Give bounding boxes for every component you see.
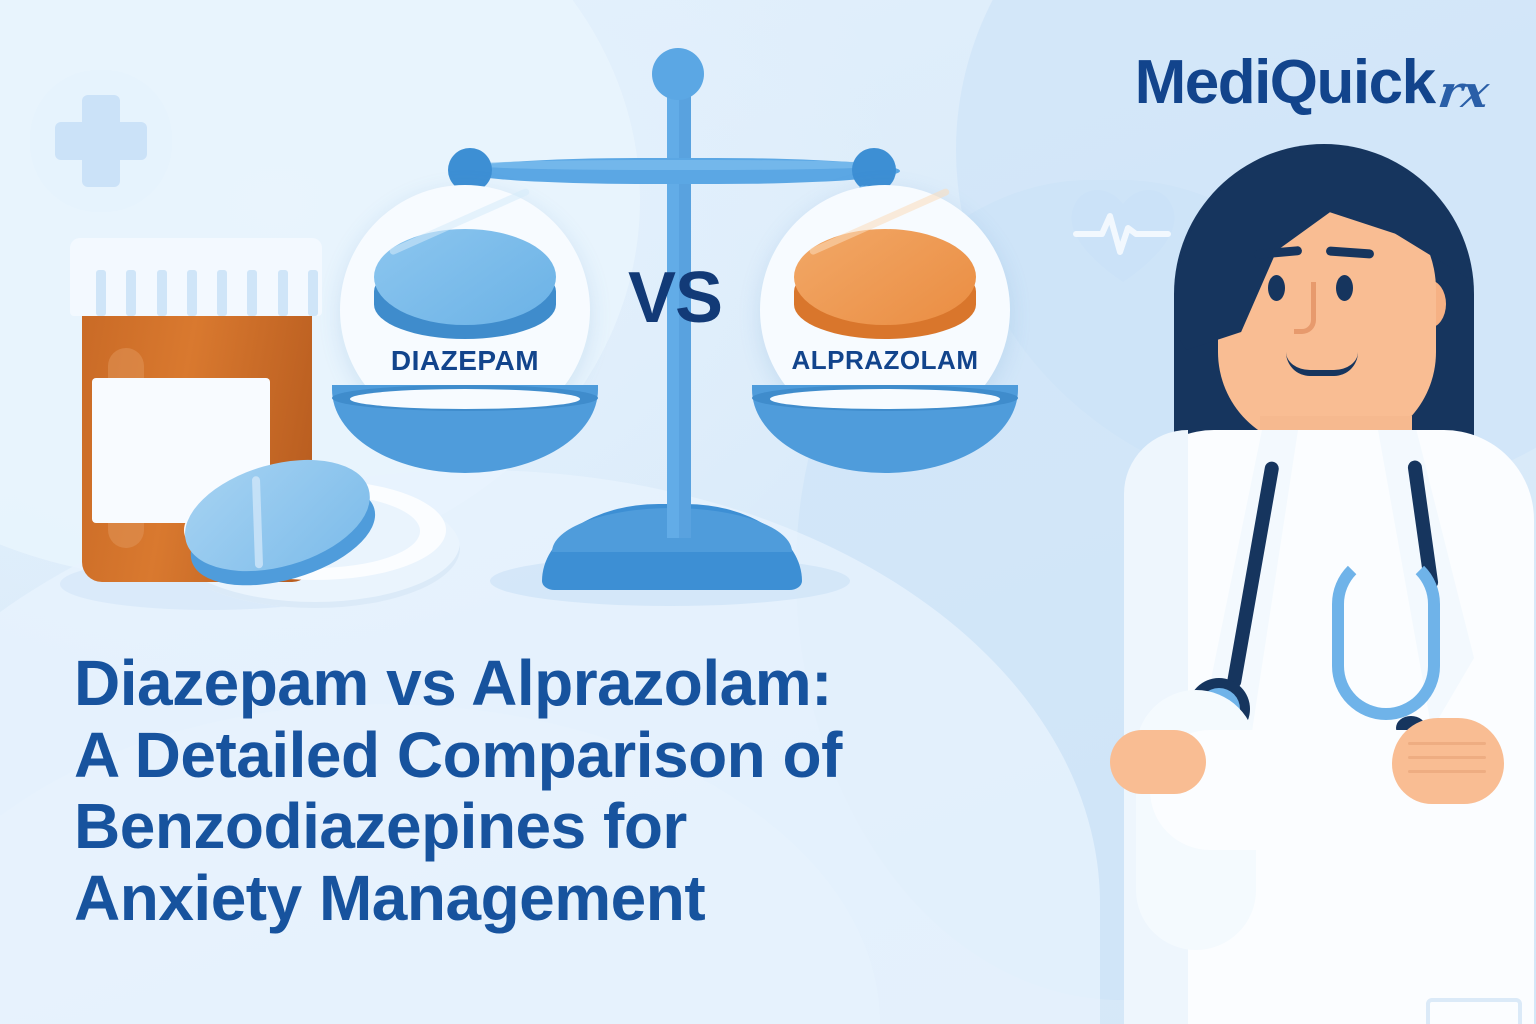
doctor-hand-right xyxy=(1392,718,1504,804)
scale-beam-highlight xyxy=(470,160,890,170)
stethoscope-loop xyxy=(1332,550,1440,720)
brand-logo[interactable]: MediQuick rx xyxy=(1135,52,1488,114)
alprazolam-pill-icon xyxy=(794,229,976,349)
bottle-cap xyxy=(70,238,322,316)
doctor-eye-left xyxy=(1268,275,1285,301)
infographic-canvas: MediQuick rx DIAZEPAM xyxy=(0,0,1536,1024)
doctor-nose xyxy=(1294,282,1316,334)
doctor-illustration xyxy=(1096,130,1536,1024)
title-line-3: Benzodiazepines for xyxy=(74,791,1084,863)
logo-wordmark: MediQuick xyxy=(1135,52,1435,114)
logo-rx-mark: rx xyxy=(1435,67,1492,118)
scale-pan-alprazolam[interactable]: ALPRAZOLAM xyxy=(760,185,1010,475)
title-line-2: A Detailed Comparison of xyxy=(74,720,1084,792)
pan-bowl-inner-right xyxy=(770,389,1000,409)
pill-bottle-illustration xyxy=(60,228,420,628)
versus-label: VS xyxy=(628,262,722,334)
cap-ridges xyxy=(96,270,318,316)
doctor-coat-pocket xyxy=(1426,998,1522,1024)
title-line-4: Anxiety Management xyxy=(74,863,1084,935)
doctor-eye-right xyxy=(1336,275,1353,301)
page-title: Diazepam vs Alprazolam: A Detailed Compa… xyxy=(74,648,1084,935)
doctor-hand-left xyxy=(1110,730,1206,794)
title-line-1: Diazepam vs Alprazolam: xyxy=(74,648,1084,720)
alprazolam-label: ALPRAZOLAM xyxy=(760,345,1010,376)
scale-top-knob xyxy=(652,48,704,100)
medical-cross-icon xyxy=(22,62,180,220)
